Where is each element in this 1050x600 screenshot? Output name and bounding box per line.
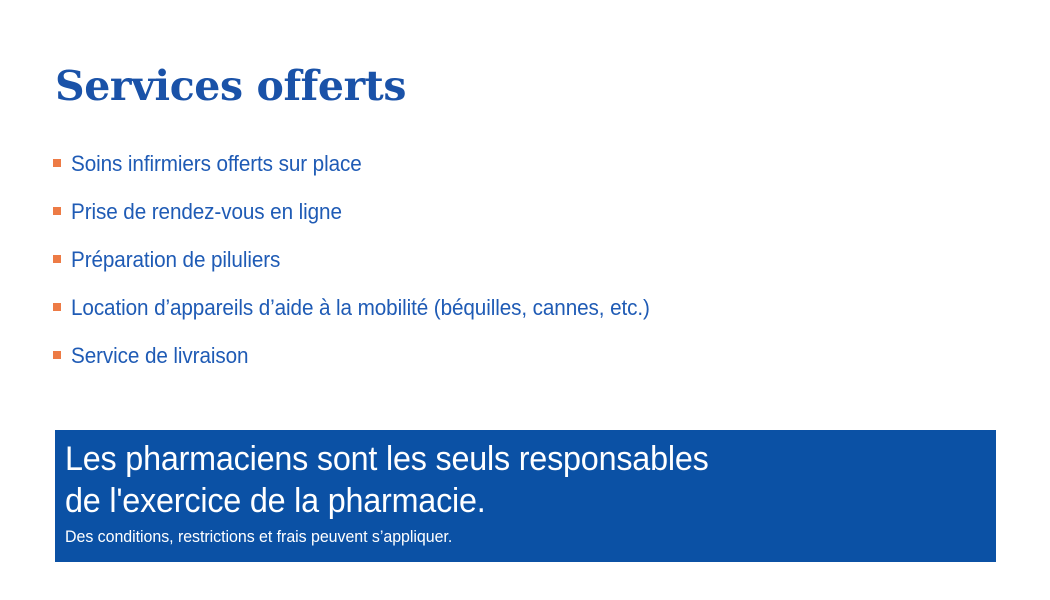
services-list: Soins infirmiers offerts sur place Prise…: [52, 140, 992, 380]
square-bullet-icon: [53, 159, 61, 167]
list-item-label: Prise de rendez-vous en ligne: [71, 198, 342, 226]
disclaimer-headline: Les pharmaciens sont les seuls responsab…: [65, 438, 949, 522]
square-bullet-icon: [53, 351, 61, 359]
square-bullet-icon: [53, 303, 61, 311]
slide-canvas: Services offerts Soins infirmiers offert…: [0, 0, 1050, 600]
list-item[interactable]: Prise de rendez-vous en ligne: [52, 188, 992, 236]
disclaimer-note: Des conditions, restrictions et frais pe…: [65, 525, 940, 549]
list-item-label: Soins infirmiers offerts sur place: [71, 150, 362, 178]
square-bullet-icon: [53, 255, 61, 263]
page-title: Services offerts: [55, 62, 406, 110]
list-item[interactable]: Soins infirmiers offerts sur place: [52, 140, 992, 188]
square-bullet-icon: [53, 207, 61, 215]
list-item[interactable]: Préparation de piluliers: [52, 236, 992, 284]
list-item-label: Location d’appareils d’aide à la mobilit…: [71, 294, 650, 322]
list-item-label: Préparation de piluliers: [71, 246, 280, 274]
list-item[interactable]: Location d’appareils d’aide à la mobilit…: [52, 284, 992, 332]
list-item-label: Service de livraison: [71, 342, 248, 370]
list-item[interactable]: Service de livraison: [52, 332, 992, 380]
disclaimer-banner: Les pharmaciens sont les seuls responsab…: [55, 430, 996, 562]
